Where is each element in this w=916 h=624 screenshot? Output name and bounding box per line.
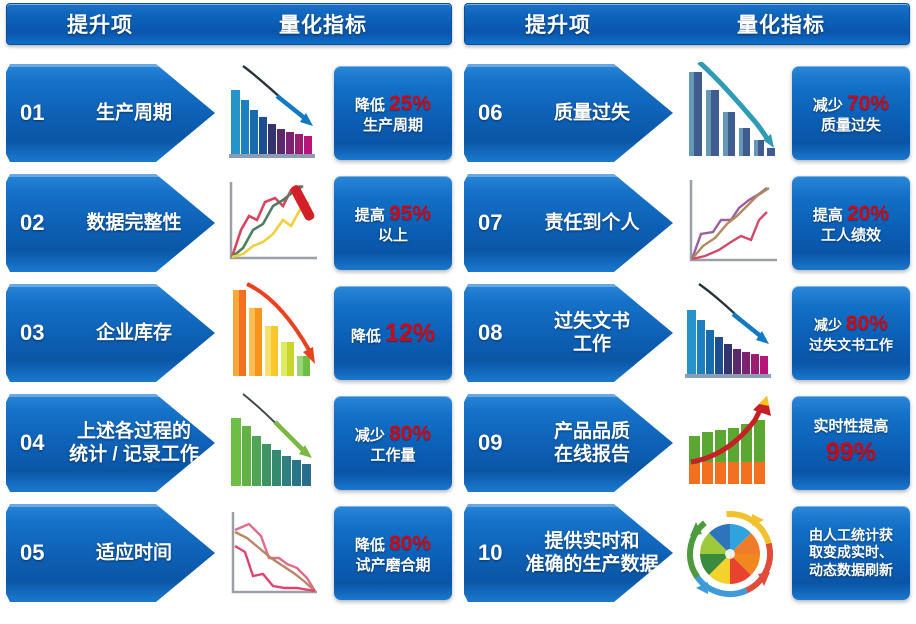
row-label-08: 过失文书 工作 xyxy=(518,310,666,356)
result-text-10: 由人工统计获 取变成实时、 动态数据刷新 xyxy=(806,527,896,579)
rising-bar-chart-green-orange-with-up-arrow-icon xyxy=(675,392,785,494)
right-header-col1: 提升项 xyxy=(525,9,591,39)
row-08[interactable]: 08 过失文书 工作 xyxy=(458,278,916,388)
descending-bar-chart-green-teal-with-green-arrow-icon xyxy=(217,392,327,494)
chevron-03[interactable]: 03 企业库存 xyxy=(6,284,215,382)
row-10[interactable]: 10 提供实时和 准确的生产数据 xyxy=(458,498,916,608)
result-box-02[interactable]: 提高 95% 以上 xyxy=(334,176,452,270)
result-value-05: 80% xyxy=(389,532,431,555)
descending-bar-chart-blue-magenta-with-down-arrow-icon xyxy=(675,282,785,384)
result-value-08: 80% xyxy=(846,312,888,335)
result-text-07: 提高 20% 工人绩效 xyxy=(810,201,892,246)
row-label-03: 企业库存 xyxy=(60,321,208,344)
row-label-01: 生产周期 xyxy=(60,101,208,124)
left-header-col1: 提升项 xyxy=(67,9,133,39)
row-number-09: 09 xyxy=(478,430,502,456)
row-07[interactable]: 07 责任到个人 提高 20% 工人绩效 xyxy=(458,168,916,278)
result-prefix-08: 减少 xyxy=(814,317,842,333)
descending-bar-chart-teal-navy-with-curved-arrow-icon xyxy=(675,62,785,164)
result-text-04: 减少 80% 工作量 xyxy=(352,421,434,466)
row-number-05: 05 xyxy=(20,540,44,566)
descending-bar-chart-orange-green-with-red-arrow-icon xyxy=(217,282,327,384)
result-prefix-03: 降低 xyxy=(351,328,381,345)
row-label-07: 责任到个人 xyxy=(518,211,666,234)
row-05[interactable]: 05 适应时间 降低 80% 试产磨合期 xyxy=(0,498,458,608)
result-box-08[interactable]: 减少 80% 过失文书工作 xyxy=(792,286,910,380)
rising-multi-line-chart-purple-pink-icon xyxy=(675,172,785,274)
result-value-01: 25% xyxy=(389,92,431,115)
row-06[interactable]: 06 质量过失 xyxy=(458,58,916,168)
result-text-09: 实时性提高 99% xyxy=(810,418,891,468)
result-text-01: 降低 25% 生产周期 xyxy=(352,91,434,136)
row-label-06: 质量过失 xyxy=(518,101,666,124)
result-text-03: 降低 12% xyxy=(348,318,438,349)
result-suffix-07: 工人绩效 xyxy=(821,227,881,244)
result-suffix-06: 质量过失 xyxy=(821,117,881,134)
result-box-07[interactable]: 提高 20% 工人绩效 xyxy=(792,176,910,270)
row-label-10: 提供实时和 准确的生产数据 xyxy=(518,530,666,576)
row-number-10: 10 xyxy=(478,540,502,566)
row-03[interactable]: 03 企业库存 xyxy=(0,278,458,388)
result-text-06: 减少 70% 质量过失 xyxy=(810,91,892,136)
descending-bar-chart-blue-purple-with-down-arrow-icon xyxy=(217,62,327,164)
left-panel: 提升项 量化指标 01 生产周期 xyxy=(0,0,458,624)
result-box-03[interactable]: 降低 12% xyxy=(334,286,452,380)
result-suffix-05: 试产磨合期 xyxy=(355,557,430,574)
result-suffix-04: 工作量 xyxy=(370,447,415,464)
row-label-04: 上述各过程的 统计 / 记录工作 xyxy=(60,420,208,466)
result-prefix-02: 提高 xyxy=(355,207,385,224)
result-box-06[interactable]: 减少 70% 质量过失 xyxy=(792,66,910,160)
result-text-08: 减少 80% 过失文书工作 xyxy=(806,311,896,354)
result-box-05[interactable]: 降低 80% 试产磨合期 xyxy=(334,506,452,600)
result-box-09[interactable]: 实时性提高 99% xyxy=(792,396,910,490)
rising-multi-line-chart-with-red-marker-icon xyxy=(217,172,327,274)
result-prefix-05: 降低 xyxy=(355,537,385,554)
result-suffix-01: 生产周期 xyxy=(363,117,423,134)
row-number-08: 08 xyxy=(478,320,502,346)
row-number-02: 02 xyxy=(20,210,44,236)
result-suffix-08: 过失文书工作 xyxy=(809,337,893,353)
row-label-09: 产品品质 在线报告 xyxy=(518,420,666,466)
result-box-04[interactable]: 减少 80% 工作量 xyxy=(334,396,452,490)
chevron-09[interactable]: 09 产品品质 在线报告 xyxy=(464,394,673,492)
result-text-02: 提高 95% 以上 xyxy=(352,201,434,246)
chevron-04[interactable]: 04 上述各过程的 统计 / 记录工作 xyxy=(6,394,215,492)
row-number-06: 06 xyxy=(478,100,502,126)
result-value-02: 95% xyxy=(389,202,431,225)
result-value-04: 80% xyxy=(389,422,431,445)
result-text-05: 降低 80% 试产磨合期 xyxy=(352,531,434,576)
result-box-01[interactable]: 降低 25% 生产周期 xyxy=(334,66,452,160)
chevron-01[interactable]: 01 生产周期 xyxy=(6,64,215,162)
result-prefix-09: 实时性提高 xyxy=(813,418,888,435)
result-box-10[interactable]: 由人工统计获 取变成实时、 动态数据刷新 xyxy=(792,506,910,600)
declining-multi-line-chart-pink-icon xyxy=(217,502,327,604)
result-value-03: 12% xyxy=(385,319,435,347)
right-panel: 提升项 量化指标 06 质量过失 xyxy=(458,0,916,624)
row-01[interactable]: 01 生产周期 xyxy=(0,58,458,168)
color-wheel-pie-with-cycle-arrows-icon xyxy=(675,502,785,604)
right-header-bar: 提升项 量化指标 xyxy=(464,3,910,45)
chevron-05[interactable]: 05 适应时间 xyxy=(6,504,215,602)
chevron-02[interactable]: 02 数据完整性 xyxy=(6,174,215,272)
row-02[interactable]: 02 数据完整性 提高 95% 以上 xyxy=(0,168,458,278)
result-prefix-06: 减少 xyxy=(813,97,843,114)
row-04[interactable]: 04 上述各过程的 统计 / 记录工作 xyxy=(0,388,458,498)
chevron-10[interactable]: 10 提供实时和 准确的生产数据 xyxy=(464,504,673,602)
row-number-04: 04 xyxy=(20,430,44,456)
row-number-03: 03 xyxy=(20,320,44,346)
chevron-06[interactable]: 06 质量过失 xyxy=(464,64,673,162)
left-header-col2: 量化指标 xyxy=(279,9,367,39)
chevron-08[interactable]: 08 过失文书 工作 xyxy=(464,284,673,382)
result-prefix-01: 降低 xyxy=(355,97,385,114)
row-label-05: 适应时间 xyxy=(60,541,208,564)
result-prefix-07: 提高 xyxy=(813,207,843,224)
result-value-09: 99% xyxy=(826,438,876,466)
row-label-02: 数据完整性 xyxy=(60,211,208,234)
row-09[interactable]: 09 产品品质 在线报告 xyxy=(458,388,916,498)
result-suffix-02: 以上 xyxy=(378,227,408,244)
result-value-06: 70% xyxy=(847,92,889,115)
result-value-07: 20% xyxy=(847,202,889,225)
result-prefix-04: 减少 xyxy=(355,427,385,444)
row-number-01: 01 xyxy=(20,100,44,126)
left-header-bar: 提升项 量化指标 xyxy=(6,3,452,45)
right-header-col2: 量化指标 xyxy=(737,9,825,39)
chevron-07[interactable]: 07 责任到个人 xyxy=(464,174,673,272)
row-number-07: 07 xyxy=(478,210,502,236)
